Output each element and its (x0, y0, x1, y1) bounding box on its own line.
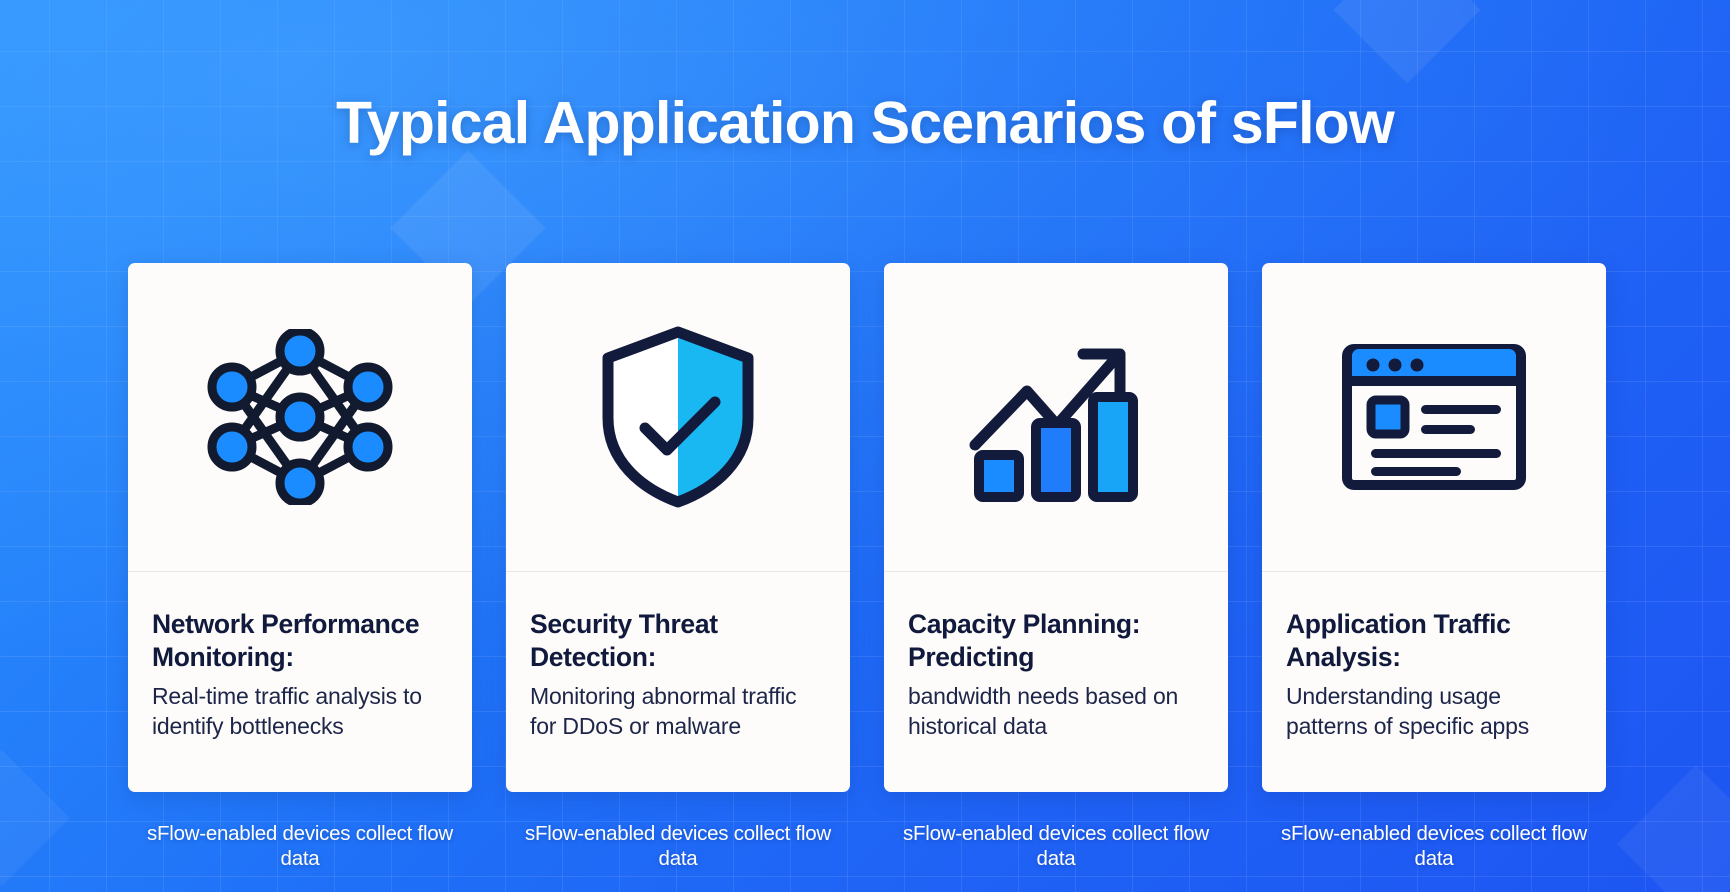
caption-row: sFlow-enabled devices collect flow data … (128, 822, 1606, 871)
card-heading: Application Traffic Analysis: (1286, 608, 1582, 674)
card-body: Network Performance Monitoring: Real-tim… (128, 572, 472, 742)
card-caption: sFlow-enabled devices collect flow data (128, 822, 472, 871)
card-network-performance-monitoring: Network Performance Monitoring: Real-tim… (128, 263, 472, 792)
infographic-canvas: Typical Application Scenarios of sFlow (0, 0, 1730, 892)
card-text: Real-time traffic analysis to identify b… (152, 681, 448, 742)
diamond-decoration-2 (1333, 0, 1480, 84)
card-text: Understanding usage patterns of specific… (1286, 681, 1582, 742)
growth-bar-chart-icon (884, 263, 1228, 572)
card-capacity-planning: Capacity Planning: Predicting bandwidth … (884, 263, 1228, 792)
card-heading: Capacity Planning: Predicting (908, 608, 1204, 674)
card-caption: sFlow-enabled devices collect flow data (1262, 822, 1606, 871)
card-body: Capacity Planning: Predicting bandwidth … (884, 572, 1228, 742)
card-text: Monitoring abnormal traffic for DDoS or … (530, 681, 826, 742)
card-application-traffic-analysis: Application Traffic Analysis: Understand… (1262, 263, 1606, 792)
card-heading: Network Performance Monitoring: (152, 608, 448, 674)
card-heading: Security Threat Detection: (530, 608, 826, 674)
page-title: Typical Application Scenarios of sFlow (0, 92, 1730, 155)
card-caption: sFlow-enabled devices collect flow data (506, 822, 850, 871)
card-grid: Network Performance Monitoring: Real-tim… (128, 263, 1606, 792)
diamond-decoration-3 (1617, 765, 1730, 892)
card-security-threat-detection: Security Threat Detection: Monitoring ab… (506, 263, 850, 792)
card-caption: sFlow-enabled devices collect flow data (884, 822, 1228, 871)
browser-window-icon (1262, 263, 1606, 572)
card-body: Application Traffic Analysis: Understand… (1262, 572, 1606, 742)
shield-check-icon (506, 263, 850, 572)
diamond-decoration-4 (0, 750, 70, 886)
neural-network-icon (128, 263, 472, 572)
card-body: Security Threat Detection: Monitoring ab… (506, 572, 850, 742)
card-text: bandwidth needs based on historical data (908, 681, 1204, 742)
